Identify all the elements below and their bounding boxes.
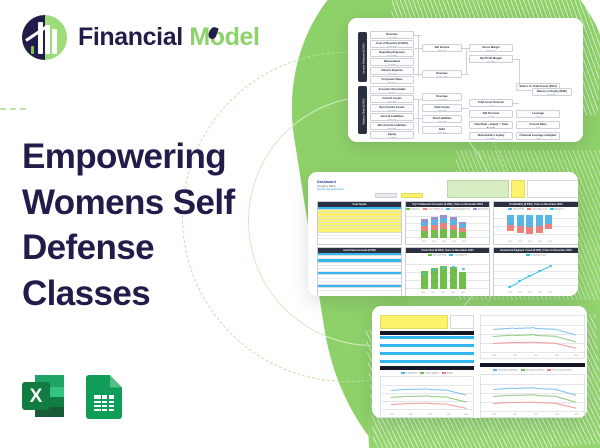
flow-node: Total Asset Turnover 1.68 (469, 99, 513, 107)
flow-node: Current Assets 321,092 (370, 95, 414, 103)
marker-2020 (422, 273, 425, 276)
axis-tick: 2020 (508, 292, 512, 294)
legend-operating-cf: Operating Cash Flow (493, 369, 518, 372)
chart-legend-balance-sheet: Total Assets Total Liabilities Equity (380, 371, 474, 376)
table-row-white (380, 348, 474, 351)
axis-tick: 2020 (422, 241, 426, 243)
flow-node: Revenue 1,241,820 (370, 31, 414, 39)
axis-tick: 2020 (508, 241, 512, 243)
axis-tick: 2022 (528, 292, 532, 294)
profitability-bars (507, 215, 552, 234)
marker-2022 (529, 215, 532, 218)
line-seg-icf (535, 395, 556, 396)
line-seg-liab (391, 396, 410, 398)
flow-node: Depreciation (7,186) (370, 58, 414, 66)
line-seg-fcf (535, 402, 556, 403)
table-row-white (380, 356, 474, 359)
axis-tick: 2022 (441, 292, 445, 294)
axis-tick: 2021 (518, 241, 522, 243)
marker-2024 (462, 268, 465, 271)
panel-cash-flow-forecast: Cash Flow Forecast ($ 000) (317, 247, 402, 296)
axis-tick: 2021 (432, 241, 436, 243)
dashboard-button-reports[interactable] (401, 193, 423, 198)
marker-2023 (539, 216, 542, 219)
panel-top5-accounts: Top 5 Statement Accounts ($ 000) | Years… (405, 201, 490, 245)
flow-node: Debt 225,364 (422, 126, 462, 134)
flow-node: Equity 314,891 (370, 131, 414, 139)
flow-node-roe: Return on Equity (ROE) 85.57% (532, 88, 572, 96)
axis-tick: 2023 (538, 241, 542, 243)
flow-node: Total Debt + Equity = Total Assets 739,9… (469, 121, 513, 129)
line-seg-liab (429, 396, 448, 397)
panel-header-balance-sheet (380, 366, 474, 370)
dashboard-body: Dashboard Company Name Specific data ass… (313, 177, 573, 291)
table-row-blue (380, 360, 474, 363)
stacked-bar-2022 (440, 215, 447, 238)
flow-node: Revenue 1,241,820 (422, 93, 462, 101)
flow-node: Net Profit Margin 21.70% (469, 55, 513, 63)
line-seg-icf (493, 395, 514, 397)
legend-ni: Net Income (473, 208, 489, 211)
dashboard-company-name: Company Name (317, 185, 336, 188)
flow-node: Current Ratio 1.61 (516, 121, 560, 129)
stacked-bar-2021 (431, 217, 438, 238)
axis-tick: 2024 (574, 355, 578, 357)
line-seg-gross (493, 335, 514, 337)
axis-tick: 2021 (513, 414, 517, 416)
flow-node: Total Assets 739,969 (422, 104, 462, 112)
line-seg-ni (556, 343, 577, 348)
flow-diagram-body: Income Statement ($ 000) Balance Sheet (… (356, 26, 575, 134)
marker-2020 (509, 217, 512, 220)
flow-node: Cost of Revenue (COGS) (547,386) (370, 40, 414, 48)
flow-side-label-income-text: Income Statement ($ 000) (363, 37, 366, 81)
legend-opex: Operating Expenses (446, 208, 470, 211)
legend-investing-cf: Investing Cash Flow (521, 369, 545, 372)
flow-node: Net Income 269,444 (422, 44, 462, 52)
axis-tick: 2020 (390, 414, 394, 416)
line-seg-assets (391, 389, 410, 391)
table-row-blue (380, 336, 474, 339)
assumption-block-white (450, 315, 474, 329)
axis-tick: 2020 (492, 355, 496, 357)
line-seg-equity (429, 403, 448, 404)
line-seg-revenue (535, 328, 556, 329)
axis-tick: 2021 (513, 355, 517, 357)
stacked-bars (421, 215, 466, 238)
axis-tick: 2022 (534, 414, 538, 416)
statements-body: Total Assets Total Liabilities Equity (377, 311, 582, 413)
balance-sheet-trend-chart: 2020 2021 2022 2023 2024 (380, 376, 474, 418)
marker-2024 (549, 265, 552, 268)
stacked-bar-2024 (459, 222, 466, 238)
flow-connector (462, 108, 469, 109)
legend-cumulative: Cumulative % (449, 254, 467, 257)
cash-flow-statement-trend-chart: 2020 2021 2022 2023 2024 (480, 374, 585, 418)
panel-investment-payback: Investment Payback / Cash ($ 000) | Year… (493, 247, 578, 296)
legend-equity: Equity (442, 372, 453, 375)
marker-2021 (518, 280, 521, 283)
google-sheets-icon[interactable] (86, 375, 122, 419)
line-seg-ocf (514, 387, 535, 388)
table-header-bar (380, 331, 474, 335)
flow-node: Current Liabilities 199,714 (370, 113, 414, 121)
legend-total-assets: Total Assets (401, 372, 417, 375)
flow-node: Interest Expense (8,217) (370, 67, 414, 75)
stacked-bar-2023 (450, 217, 457, 238)
panel-cash-flow-chart: Cash Flow ($ 000) | Years to December 20… (405, 247, 490, 296)
marker-2020 (508, 286, 511, 289)
axis-tick: 2023 (555, 355, 559, 357)
flow-node: Corporate Taxes (92,039) (370, 76, 414, 84)
flow-node: Total Liabilities 425,078 (422, 115, 462, 123)
flow-connector (519, 59, 520, 87)
axis-tick: 2024 (574, 414, 578, 416)
flow-connector (513, 103, 519, 104)
marker-2023 (452, 266, 455, 269)
axis-tick: 2022 (428, 414, 432, 416)
line-seg-gross (535, 335, 556, 336)
summary-block-yellow (511, 180, 525, 198)
chart-plot-area: 2020 2021 2022 2023 2024 (406, 258, 489, 294)
flow-side-label-income: Income Statement ($ 000) (358, 32, 367, 82)
dupont-financial-flow-diagram[interactable]: Income Statement ($ 000) Balance Sheet (… (348, 18, 583, 142)
axis-tick: 2021 (518, 292, 522, 294)
bar-2023 (450, 267, 457, 289)
financial-statements-card[interactable]: Total Assets Total Liabilities Equity (372, 306, 587, 418)
brand-name-part1: Financial (78, 23, 183, 51)
line-seg-assets (410, 388, 429, 389)
line-seg-ocf (535, 388, 556, 389)
panel-header-cash-flow-statement (480, 363, 585, 367)
legend-cor: Cost of Revenue (423, 208, 443, 211)
line-seg-equity (391, 403, 410, 405)
legend-total-liabilities: Total Liabilities (420, 372, 439, 375)
axis-tick: 2024 (461, 292, 465, 294)
slide-canvas: Financial Model Empowering Womens Self D… (0, 0, 600, 448)
legend-cumulative-cash: Cumulative Cash (526, 254, 547, 257)
dashed-arc-left (0, 108, 26, 112)
flow-node: Shareholder's Equity 314,891 (469, 132, 513, 140)
chart-plot-area: 2020 2021 2022 2023 2024 (494, 258, 578, 294)
brand-name-part2: Model (189, 23, 259, 51)
table-row-blue (380, 344, 474, 347)
marker-2021 (432, 269, 435, 272)
marker-2024 (549, 217, 552, 220)
line-seg-gross (514, 334, 535, 335)
line-seg-liab (410, 395, 429, 396)
circular-bar-chart-logo-icon (22, 15, 67, 60)
flow-node: Leverage 2.35 (516, 110, 560, 118)
line-seg-gross (556, 336, 576, 342)
axis-tick: 2020 (492, 414, 496, 416)
axis-tick: 2024 (462, 241, 466, 243)
flow-side-label-balance: Balance Sheet ($ 000) (358, 86, 367, 134)
axis-tick: 2021 (409, 414, 413, 416)
brand-name-part2-text: Model (189, 23, 259, 51)
line-seg-fcf (493, 402, 514, 404)
line-seg-icf (514, 394, 535, 395)
axis-tick: 2023 (451, 292, 455, 294)
legend-gross-profit: Gross Profit (508, 208, 524, 211)
brand-logo[interactable]: Financial Model (22, 15, 260, 60)
flow-connector (466, 48, 467, 74)
axis-tick: 2023 (452, 241, 456, 243)
marker-2021 (519, 216, 522, 219)
flow-node: Non Current Liabilities 225,364 (370, 122, 414, 130)
axis-tick: 2024 (548, 241, 552, 243)
flow-connector (462, 74, 469, 75)
stacked-bar-2020 (421, 219, 428, 238)
flow-node: Accounts Receivable 84,964 (370, 86, 414, 94)
marker-2022 (528, 275, 531, 278)
panel-case-inputs: Case Inputs (317, 201, 402, 245)
flow-node: A/R Turnover 14.62 (469, 110, 513, 118)
flow-node: Revenue 1,241,820 (422, 70, 462, 78)
legend-financing-cf: Financing Cash Flow (547, 369, 571, 372)
axis-tick: 2024 (548, 292, 552, 294)
line-seg-equity (410, 403, 429, 404)
brand-name: Financial Model (78, 23, 260, 52)
line-seg-revenue (493, 328, 514, 330)
line-seg-ocf (493, 388, 514, 390)
axis-tick: 2023 (555, 414, 559, 416)
compatible-apps-row: X (22, 375, 122, 419)
flow-connector (418, 99, 419, 134)
microsoft-excel-icon[interactable]: X (22, 375, 64, 417)
flow-node: Operating Expenses (317,548) (370, 49, 414, 57)
axis-tick: 2021 (431, 292, 435, 294)
summary-block-green (447, 180, 509, 198)
flow-side-label-balance-text: Balance Sheet ($ 000) (363, 90, 366, 134)
chart-legend-cash-flow: Operating Cash Flow Investing Cash Flow … (480, 368, 585, 373)
line-seg-equity (448, 404, 467, 408)
table-row-white (380, 340, 474, 343)
table-row-blue (380, 352, 474, 355)
panel-profitability: Profitability ($ 000) | Years to Decembe… (493, 201, 578, 245)
line-seg-assets (429, 389, 448, 390)
income-statement-trend-chart: 2020 2021 2022 2023 2024 (480, 315, 585, 359)
summary-block-white (527, 180, 578, 198)
excel-letter: X (22, 382, 50, 410)
axis-tick: 2023 (447, 414, 451, 416)
axis-tick: 2022 (442, 241, 446, 243)
axis-tick: 2024 (464, 414, 468, 416)
dashboard-button-inputs[interactable] (375, 193, 397, 198)
dashboard-note: Specific data assumptions (317, 189, 344, 191)
assumption-block-yellow (380, 315, 448, 329)
axis-tick: 2022 (534, 355, 538, 357)
bar-2022 (526, 215, 533, 234)
bar-2024 (459, 272, 466, 289)
axis-tick: 2023 (538, 292, 542, 294)
line-seg-revenue (514, 327, 535, 328)
flow-node: Financial Leverage multiplier 2.35 (516, 132, 560, 140)
page-title: Empowering Womens Self Defense Classes (22, 134, 272, 316)
chart-plot-area: 2020 2021 2022 2023 2024 (494, 212, 578, 242)
axis-tick: 2022 (528, 241, 532, 243)
financial-dashboard-card[interactable]: Dashboard Company Name Specific data ass… (308, 172, 578, 296)
legend-margin: Margin % (550, 208, 564, 211)
flow-node: Gross Margin 55.92% (469, 44, 513, 52)
flow-node: Non Current Assets 418,877 (370, 104, 414, 112)
chart-plot-area: 2020 2021 2022 2023 2024 (406, 212, 489, 242)
line-seg-fcf (514, 402, 535, 403)
axis-tick: 2020 (421, 292, 425, 294)
line-seg-fcf (556, 403, 577, 408)
legend-revenue: Revenue (406, 208, 419, 211)
flow-connector (418, 35, 419, 77)
marker-2022 (442, 267, 445, 270)
marker-2023 (538, 270, 541, 273)
dashboard-title: Dashboard (317, 180, 336, 184)
legend-net-cash-flow: Net Cash Flow (428, 254, 447, 257)
legend-operating-cost: Operating Costs (527, 208, 547, 211)
